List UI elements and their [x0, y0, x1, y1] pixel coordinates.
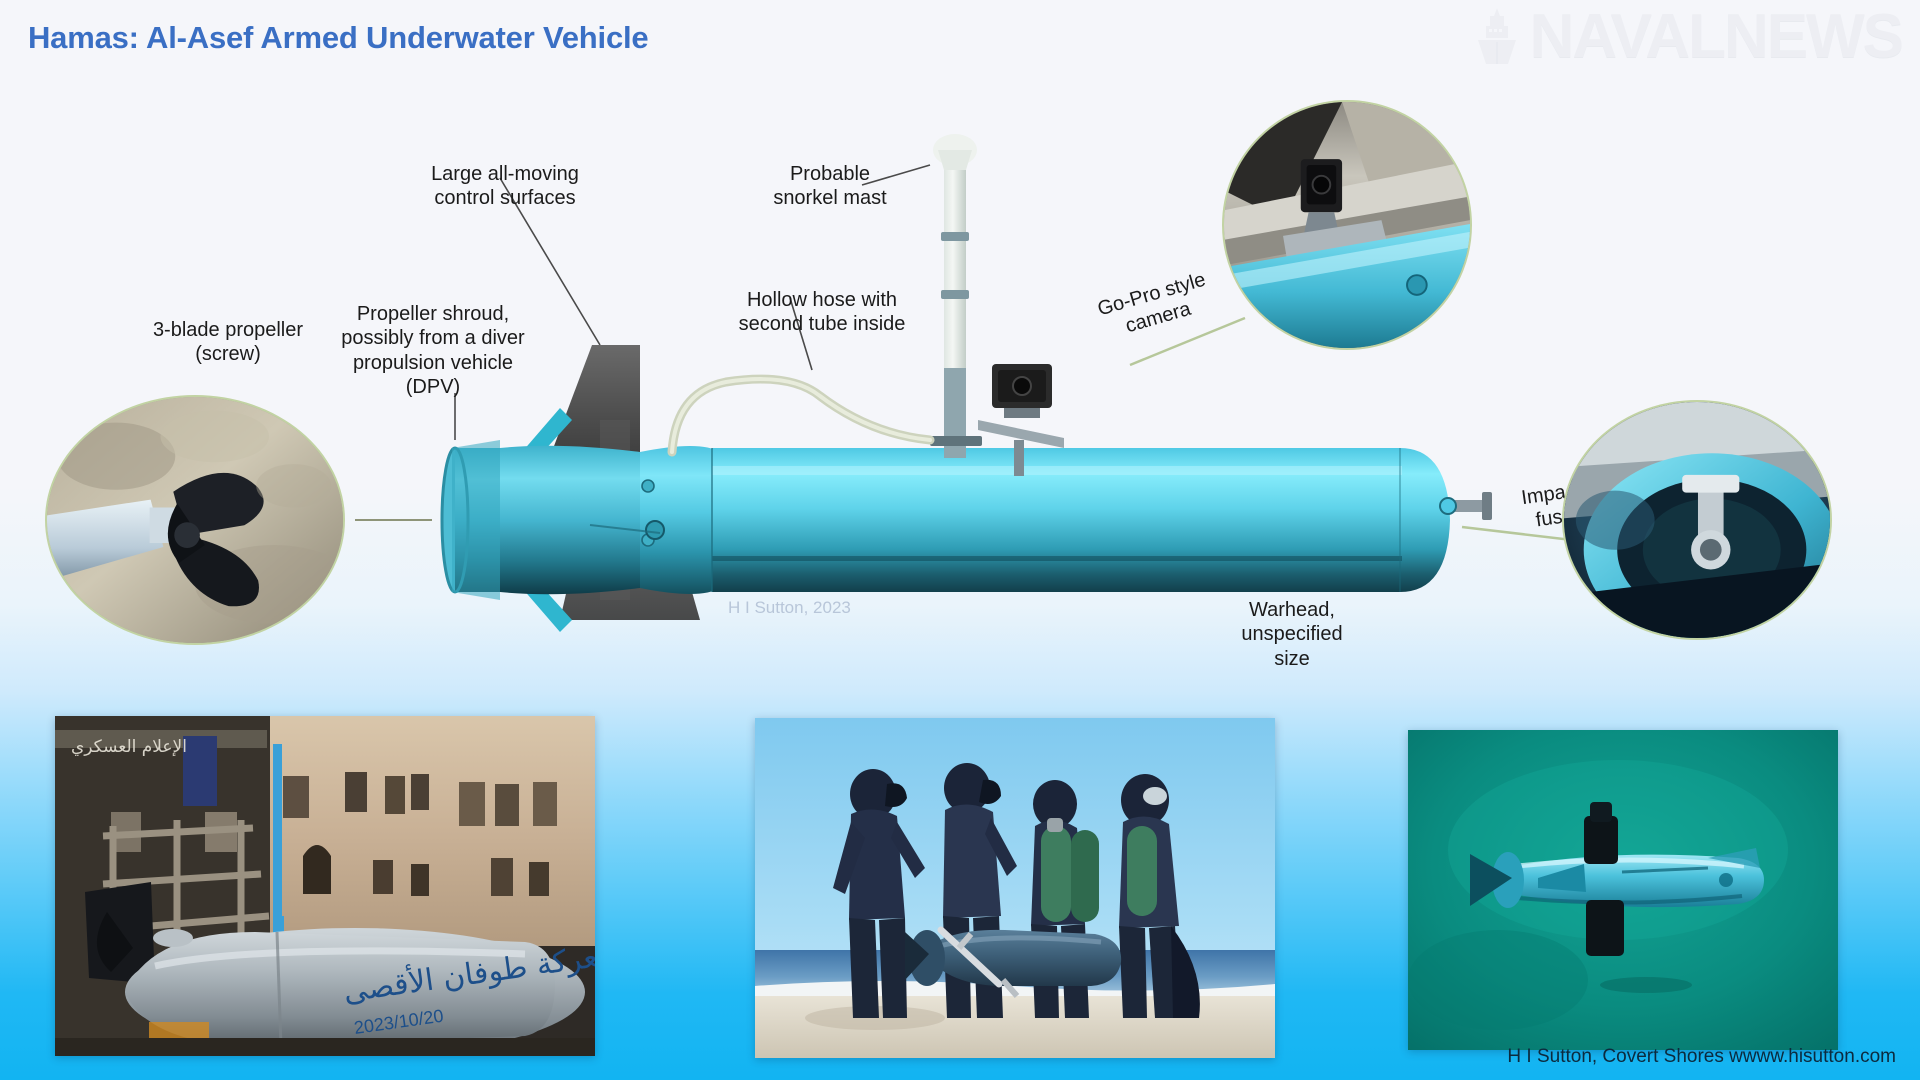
annotation-shroud: Propeller shroud, possibly from a diver … [288, 302, 578, 400]
fuse-inset-image [1564, 402, 1830, 638]
svg-text:الإعلام العسكري: الإعلام العسكري [71, 737, 187, 757]
divers-photo-image [755, 718, 1275, 1058]
underwater-photo-image [1408, 730, 1838, 1050]
underwater-photo [1408, 730, 1838, 1050]
divers-photo [755, 718, 1275, 1058]
propeller-inset [45, 395, 345, 645]
propeller-inset-image [47, 397, 343, 644]
footer-credit: H I Sutton, Covert Shores wwww.hisutton.… [1507, 1046, 1896, 1068]
camera-inset-image [1224, 102, 1470, 348]
diagram-credit: H I Sutton, 2023 [728, 598, 851, 618]
workshop-photo-image: معركة طوفان الأقصى 2023/10/20 الإعلام ال… [55, 716, 595, 1056]
annotation-control-surfaces: Large all-moving control surfaces [360, 162, 650, 211]
camera-inset [1222, 100, 1472, 350]
annotation-hose: Hollow hose with second tube inside [672, 288, 972, 337]
workshop-photo: معركة طوفان الأقصى 2023/10/20 الإعلام ال… [55, 716, 595, 1056]
fuse-inset [1562, 400, 1832, 640]
annotation-warhead: Warhead, unspecified size [1182, 598, 1402, 671]
annotation-snorkel: Probable snorkel mast [700, 162, 960, 211]
